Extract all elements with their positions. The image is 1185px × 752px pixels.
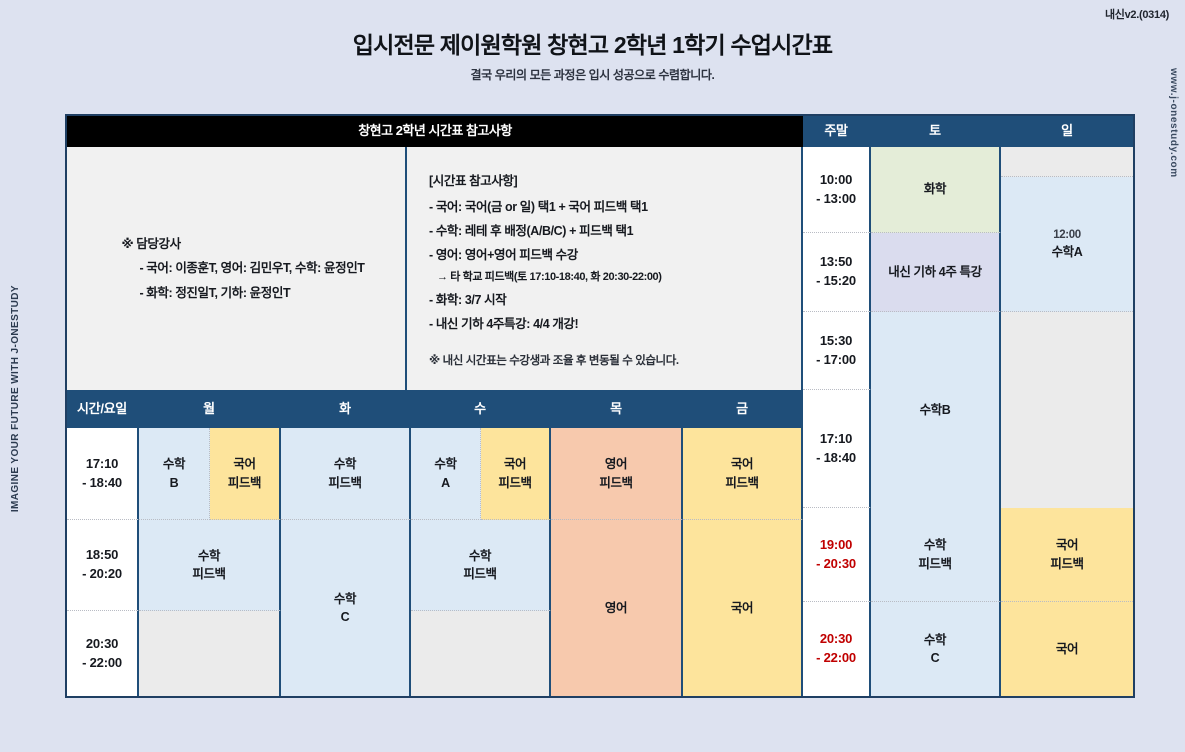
mon-cell-math-feedback[interactable]: 수학 피드백 [139, 520, 281, 611]
sat-mathC-line2: C [931, 649, 940, 667]
sun-cell-empty-2 [1001, 312, 1133, 508]
weekend-time-6-start: 20:30 [820, 630, 852, 649]
header-time-day: 시간/요일 [67, 390, 139, 428]
sat-math-fb-line2: 피드백 [918, 555, 951, 573]
header-sunday: 일 [1001, 116, 1133, 147]
header-tuesday: 화 [281, 390, 411, 428]
sat-mathC-line1: 수학 [924, 631, 946, 649]
notes-header: 창현고 2학년 시간표 참고사항 [67, 116, 803, 147]
header-weekend: 주말 [803, 116, 871, 147]
weekend-time-5-start: 19:00 [820, 536, 852, 555]
weekday-time-2-start: 18:50 [86, 546, 118, 565]
sun-mathA-subject: 수학A [1052, 243, 1083, 261]
wed-mathA-line2: A [441, 474, 450, 492]
thu-english-fb-line1: 영어 [605, 455, 627, 473]
schedule-page: 내신v2.(0314) IMAGINE YOUR FUTURE WITH J-O… [0, 0, 1185, 752]
wed-cell-mathA[interactable]: 수학 A [411, 428, 481, 520]
tue-cell-math-feedback[interactable]: 수학 피드백 [281, 428, 411, 520]
header-wednesday: 수 [411, 390, 551, 428]
wed-cell-empty [411, 611, 551, 696]
thu-cell-english[interactable]: 영어 [551, 520, 683, 696]
weekday-time-1-start: 17:10 [86, 455, 118, 474]
left-vertical-slogan: IMAGINE YOUR FUTURE WITH J-ONESTUDY [10, 285, 21, 512]
notes-line-2: - 수학: 레테 후 배정(A/B/C) + 피드백 택1 [429, 219, 679, 243]
tue-mathC-line1: 수학 [334, 590, 356, 608]
sat-cell-mathC[interactable]: 수학 C [871, 602, 1001, 696]
weekend-time-3-start: 15:30 [820, 332, 852, 351]
sat-cell-math-feedback[interactable]: 수학 피드백 [871, 508, 1001, 602]
tue-mathC-line2: C [341, 608, 350, 626]
right-vertical-website: www.j-onestudy.com [1168, 68, 1179, 178]
tue-cell-mathC[interactable]: 수학 C [281, 520, 411, 696]
weekday-time-3-start: 20:30 [86, 635, 118, 654]
header-monday: 월 [139, 390, 281, 428]
wed-korean-fb-line1: 국어 [504, 455, 526, 473]
wed-mathA-line1: 수학 [434, 455, 456, 473]
sun-korean-fb-line2: 피드백 [1050, 555, 1083, 573]
notes-heading: [시간표 참고사항] [429, 169, 679, 193]
header-saturday: 토 [871, 116, 1001, 147]
wed-cell-math-feedback[interactable]: 수학 피드백 [411, 520, 551, 611]
version-tag: 내신v2.(0314) [1105, 6, 1169, 22]
tue-math-fb-line2: 피드백 [328, 474, 361, 492]
sun-cell-mathA[interactable]: 12:00 수학A [1001, 177, 1133, 312]
weekend-time-6-end: - 22:00 [816, 649, 856, 668]
mon-cell-mathB[interactable]: 수학 B [139, 428, 210, 520]
fri-cell-korean[interactable]: 국어 [683, 520, 803, 696]
wed-math-fb-line1: 수학 [469, 547, 491, 565]
wed-cell-korean-feedback[interactable]: 국어 피드백 [481, 428, 551, 520]
page-subtitle: 결국 우리의 모든 과정은 입시 성공으로 수렴합니다. [0, 66, 1185, 83]
notes-line-6: - 내신 기하 4주특강: 4/4 개강! [429, 312, 679, 336]
wed-korean-fb-line2: 피드백 [498, 474, 531, 492]
weekend-time-1-start: 10:00 [820, 171, 852, 190]
header-thursday: 목 [551, 390, 683, 428]
weekday-time-3: 20:30 - 22:00 [67, 611, 139, 696]
wed-math-fb-line2: 피드백 [463, 565, 496, 583]
weekday-time-1: 17:10 - 18:40 [67, 428, 139, 520]
fri-cell-korean-feedback[interactable]: 국어 피드백 [683, 428, 803, 520]
thu-cell-english-feedback[interactable]: 영어 피드백 [551, 428, 683, 520]
notes-line-4: → 타 학교 피드백(토 17:10-18:40, 화 20:30-22:00) [429, 267, 679, 288]
weekend-time-3-end: - 17:00 [816, 351, 856, 370]
mon-korean-fb-line1: 국어 [233, 455, 255, 473]
notes-line-3: - 영어: 영어+영어 피드백 수강 [429, 243, 679, 267]
instructors-text: ※ 담당강사 - 국어: 이종훈T, 영어: 김민우T, 수학: 윤정인T - … [107, 232, 364, 305]
fri-korean-fb-line1: 국어 [731, 455, 753, 473]
instructors-label: ※ 담당강사 [121, 232, 364, 256]
notes-line-5: - 화학: 3/7 시작 [429, 288, 679, 312]
weekend-time-5: 19:00 - 20:30 [803, 508, 871, 602]
sat-cell-mathB[interactable]: 수학B [871, 312, 1001, 508]
sat-cell-chemistry[interactable]: 화학 [871, 147, 1001, 233]
tue-math-fb-line1: 수학 [334, 455, 356, 473]
mon-math-fb-line2: 피드백 [192, 565, 225, 583]
instructors-line-2: - 화학: 정진일T, 기하: 윤정인T [121, 281, 364, 305]
weekday-time-2-end: - 20:20 [82, 565, 122, 584]
weekend-time-6: 20:30 - 22:00 [803, 602, 871, 696]
weekday-time-1-end: - 18:40 [82, 474, 122, 493]
page-title: 입시전문 제이원학원 창현고 2학년 1학기 수업시간표 [0, 26, 1185, 60]
weekend-time-2-start: 13:50 [820, 253, 852, 272]
sun-mathA-time: 12:00 [1053, 227, 1080, 244]
sun-cell-korean-feedback[interactable]: 국어 피드백 [1001, 508, 1133, 602]
weekend-time-3: 15:30 - 17:00 [803, 312, 871, 390]
notes-line-1: - 국어: 국어(금 or 일) 택1 + 국어 피드백 택1 [429, 195, 679, 219]
sun-korean-fb-line1: 국어 [1056, 536, 1078, 554]
instructors-panel: ※ 담당강사 - 국어: 이종훈T, 영어: 김민우T, 수학: 윤정인T - … [67, 147, 407, 390]
notes-panel: [시간표 참고사항] - 국어: 국어(금 or 일) 택1 + 국어 피드백 … [407, 147, 803, 390]
weekend-time-2-end: - 15:20 [816, 272, 856, 291]
mon-korean-fb-line2: 피드백 [228, 474, 261, 492]
mon-cell-korean-feedback[interactable]: 국어 피드백 [210, 428, 281, 520]
sun-cell-korean[interactable]: 국어 [1001, 602, 1133, 696]
mon-cell-empty [139, 611, 281, 696]
weekend-time-2: 13:50 - 15:20 [803, 233, 871, 312]
sat-cell-geometry-intensive[interactable]: 내신 기하 4주 특강 [871, 233, 1001, 312]
sat-math-fb-line1: 수학 [924, 536, 946, 554]
fri-korean-fb-line2: 피드백 [725, 474, 758, 492]
mon-math-fb-line1: 수학 [198, 547, 220, 565]
weekend-time-5-end: - 20:30 [816, 555, 856, 574]
schedule-grid: 창현고 2학년 시간표 참고사항 주말 토 일 ※ 담당강사 - 국어: 이종훈… [65, 114, 1135, 698]
notes-text: [시간표 참고사항] - 국어: 국어(금 or 일) 택1 + 국어 피드백 … [407, 147, 679, 372]
weekend-time-1: 10:00 - 13:00 [803, 147, 871, 233]
instructors-line-1: - 국어: 이종훈T, 영어: 김민우T, 수학: 윤정인T [121, 256, 364, 280]
weekend-time-1-end: - 13:00 [816, 190, 856, 209]
weekend-time-4-end: - 18:40 [816, 449, 856, 468]
weekday-time-3-end: - 22:00 [82, 654, 122, 673]
weekend-time-4: 17:10 - 18:40 [803, 390, 871, 508]
header-friday: 금 [683, 390, 803, 428]
mon-mathB-line1: 수학 [163, 455, 185, 473]
weekend-time-4-start: 17:10 [820, 430, 852, 449]
mon-mathB-line2: B [170, 474, 179, 492]
weekday-time-2: 18:50 - 20:20 [67, 520, 139, 611]
notes-footer: ※ 내신 시간표는 수강생과 조율 후 변동될 수 있습니다. [429, 350, 679, 372]
thu-english-fb-line2: 피드백 [599, 474, 632, 492]
sun-cell-empty-1 [1001, 147, 1133, 177]
